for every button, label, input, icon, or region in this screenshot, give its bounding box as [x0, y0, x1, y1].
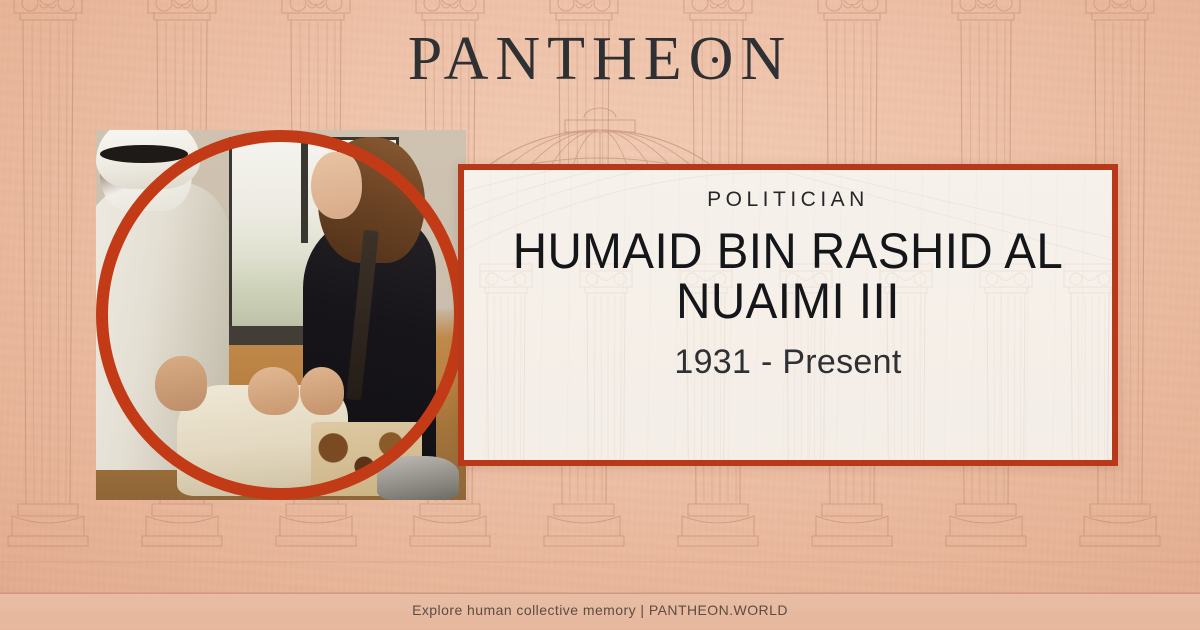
photo-hand-left: [155, 356, 207, 412]
logo-text-part-2: N: [740, 25, 792, 93]
lifespan-label: 1931 - Present: [674, 343, 901, 382]
photo-woman-face: [311, 152, 363, 219]
occupation-label: POLITICIAN: [707, 188, 869, 212]
photo-hand-right: [300, 367, 344, 415]
logo-o-with-dot: O: [689, 28, 741, 90]
person-info-card: POLITICIAN HUMAID BIN RASHID AL NUAIMI I…: [458, 164, 1118, 466]
pantheon-profile-card: PANTHEON: [0, 0, 1200, 630]
logo-text-part-1: PANTHE: [408, 25, 689, 93]
card-content: POLITICIAN HUMAID BIN RASHID AL NUAIMI I…: [464, 170, 1112, 460]
photo-hand-middle: [248, 367, 300, 415]
photo-metal-tray: [377, 456, 458, 500]
pantheon-logo[interactable]: PANTHEON: [0, 28, 1200, 90]
portrait-photo-container[interactable]: [96, 130, 466, 500]
portrait-photo: [96, 130, 466, 500]
logo-dot-icon: [712, 57, 718, 63]
footer-tagline[interactable]: Explore human collective memory | PANTHE…: [0, 602, 1200, 618]
person-name: HUMAID BIN RASHID AL NUAIMI III: [484, 226, 1092, 326]
